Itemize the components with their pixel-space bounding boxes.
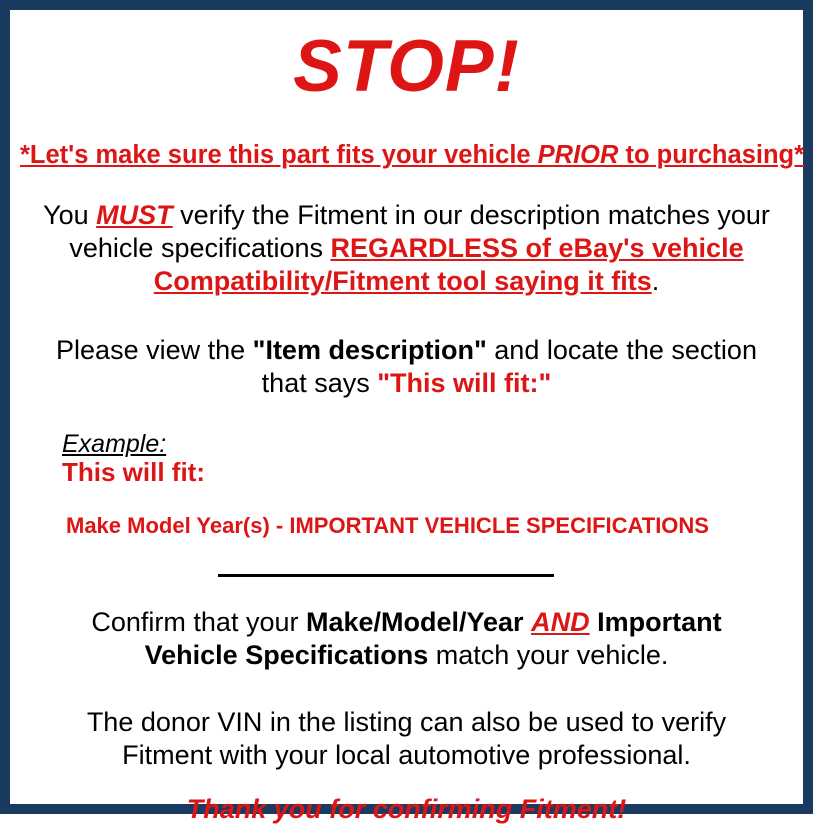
horizontal-divider bbox=[218, 574, 554, 577]
tagline-text-1: *Let's make sure this part fits your veh… bbox=[20, 141, 538, 169]
item-description-emphasis: "Item description" bbox=[253, 335, 487, 365]
divider-row bbox=[20, 538, 793, 582]
fitment-notice-body: STOP! *Let's make sure this part fits yo… bbox=[10, 10, 803, 804]
make-model-year-emphasis: Make/Model/Year bbox=[306, 607, 524, 637]
thank-you-line: Thank you for confirming Fitment! bbox=[20, 772, 793, 825]
confirm-text-1: Confirm that your bbox=[91, 607, 306, 637]
example-block: Example: This will fit: Make Model Year(… bbox=[20, 400, 793, 538]
confirm-text-4: match your vehicle. bbox=[428, 640, 668, 670]
must-text-1: You bbox=[43, 200, 96, 230]
stop-heading: STOP! bbox=[20, 10, 793, 103]
example-label: Example: bbox=[62, 430, 793, 458]
and-emphasis: AND bbox=[531, 607, 590, 637]
tagline-text-2: to purchasing* bbox=[618, 141, 804, 169]
tagline-emphasis-prior: PRIOR bbox=[538, 141, 619, 169]
confirm-text-2 bbox=[524, 607, 532, 637]
item-description-paragraph: Please view the "Item description" and l… bbox=[20, 298, 793, 400]
this-will-fit-emphasis: "This will fit:" bbox=[377, 368, 551, 398]
example-fitment-line: Make Model Year(s) - IMPORTANT VEHICLE S… bbox=[62, 488, 793, 538]
must-emphasis: MUST bbox=[96, 200, 173, 230]
donor-vin-paragraph: The donor VIN in the listing can also be… bbox=[20, 672, 793, 772]
confirm-text-3 bbox=[590, 607, 598, 637]
tagline: *Let's make sure this part fits your veh… bbox=[20, 103, 793, 169]
must-text-3: . bbox=[652, 266, 660, 296]
must-verify-paragraph: You MUST verify the Fitment in our descr… bbox=[20, 169, 793, 298]
item-desc-text-1: Please view the bbox=[56, 335, 253, 365]
example-this-will-fit: This will fit: bbox=[62, 458, 793, 488]
fitment-notice-frame: STOP! *Let's make sure this part fits yo… bbox=[0, 0, 813, 814]
confirm-paragraph: Confirm that your Make/Model/Year AND Im… bbox=[20, 582, 793, 672]
